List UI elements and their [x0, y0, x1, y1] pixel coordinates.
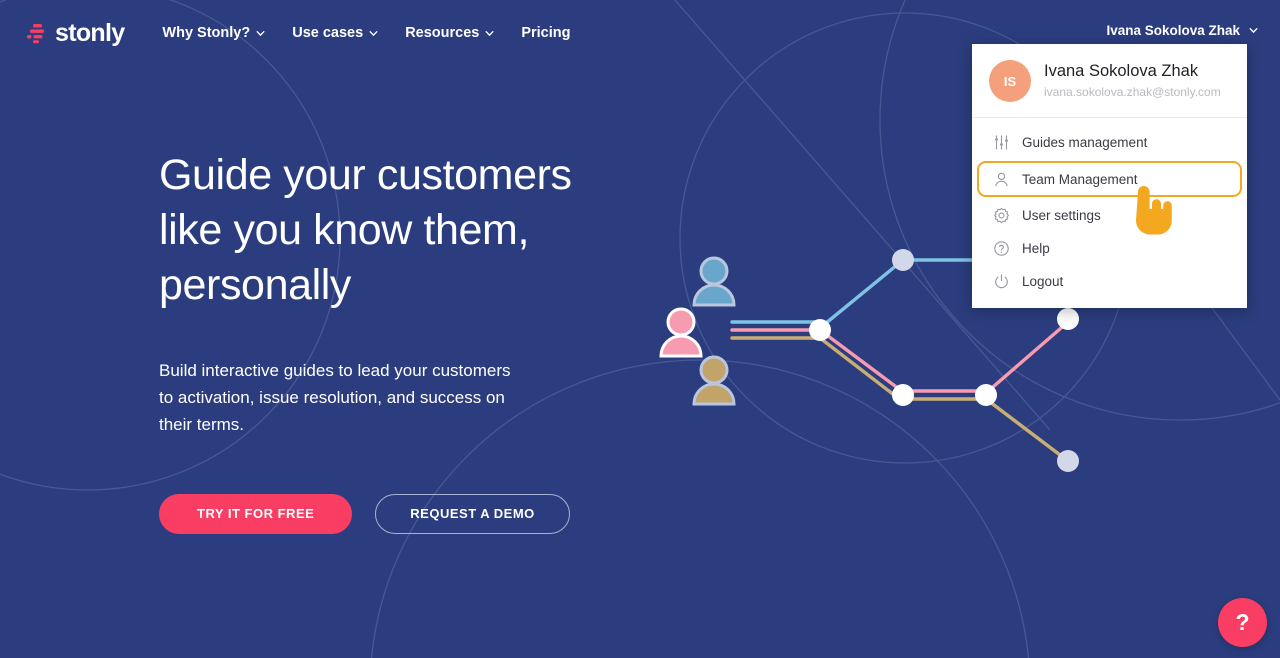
dropdown-user-name: Ivana Sokolova Zhak: [1044, 61, 1221, 81]
dropdown-user-header: IS Ivana Sokolova Zhak ivana.sokolova.zh…: [972, 44, 1247, 118]
brand-logo[interactable]: stonly: [26, 19, 124, 48]
try-it-for-free-button[interactable]: TRY IT FOR FREE: [159, 494, 352, 534]
menu-item-label: User settings: [1022, 208, 1101, 223]
brand-name: stonly: [55, 19, 124, 48]
headline-line-3: personally: [159, 261, 351, 309]
user-dropdown-menu: IS Ivana Sokolova Zhak ivana.sokolova.zh…: [972, 44, 1247, 308]
node-top: [892, 249, 914, 271]
headline-line-2: like you know them,: [159, 206, 529, 254]
menu-item-logout[interactable]: Logout: [979, 265, 1240, 298]
chevron-down-icon: [256, 29, 265, 38]
user-menu-trigger[interactable]: Ivana Sokolova Zhak: [1106, 23, 1258, 38]
nav-item-pricing[interactable]: Pricing: [521, 25, 570, 41]
node-lower-left: [892, 384, 914, 406]
cta-row: TRY IT FOR FREE REQUEST A DEMO: [159, 494, 719, 534]
avatar: IS: [989, 60, 1031, 102]
chevron-down-icon: [369, 29, 378, 38]
gear-icon: [993, 207, 1010, 224]
nav-links: Why Stonly? Use cases Resources Pricing: [162, 25, 570, 41]
menu-item-help[interactable]: Help: [979, 232, 1240, 265]
nav-item-label: Use cases: [292, 25, 363, 41]
chevron-down-icon: [1249, 26, 1258, 35]
dropdown-menu-list: Guides management Team Management User s…: [972, 118, 1247, 308]
menu-item-label: Guides management: [1022, 135, 1147, 150]
nav-item-label: Pricing: [521, 25, 570, 41]
nav-item-why-stonly[interactable]: Why Stonly?: [162, 25, 265, 41]
person-icon: [993, 171, 1010, 188]
help-floating-button[interactable]: ?: [1218, 598, 1267, 647]
menu-item-team-management[interactable]: Team Management: [977, 161, 1242, 197]
menu-item-label: Help: [1022, 241, 1050, 256]
page-title: Guide your customers like you know them,…: [159, 148, 719, 313]
user-menu-trigger-label: Ivana Sokolova Zhak: [1106, 23, 1240, 38]
headline-line-1: Guide your customers: [159, 151, 572, 199]
hero-section: Guide your customers like you know them,…: [159, 148, 719, 534]
power-icon: [993, 273, 1010, 290]
question-circle-icon: [993, 240, 1010, 257]
node-right-upper: [1057, 308, 1079, 330]
request-a-demo-button[interactable]: REQUEST A DEMO: [375, 494, 570, 534]
hero-subheading: Build interactive guides to lead your cu…: [159, 357, 529, 438]
menu-item-user-settings[interactable]: User settings: [979, 199, 1240, 232]
stonly-stacked-bars-icon: [26, 22, 48, 44]
dropdown-user-email: ivana.sokolova.zhak@stonly.com: [1044, 83, 1221, 101]
menu-item-label: Logout: [1022, 274, 1063, 289]
menu-item-label: Team Management: [1022, 172, 1138, 187]
nav-item-use-cases[interactable]: Use cases: [292, 25, 378, 41]
nav-item-label: Why Stonly?: [162, 25, 250, 41]
node-right-lower: [1057, 450, 1079, 472]
node-junction-main: [809, 319, 831, 341]
sliders-icon: [993, 134, 1010, 151]
node-lower-right: [975, 384, 997, 406]
nav-item-label: Resources: [405, 25, 479, 41]
nav-item-resources[interactable]: Resources: [405, 25, 494, 41]
menu-item-guides-management[interactable]: Guides management: [979, 126, 1240, 159]
chevron-down-icon: [485, 29, 494, 38]
